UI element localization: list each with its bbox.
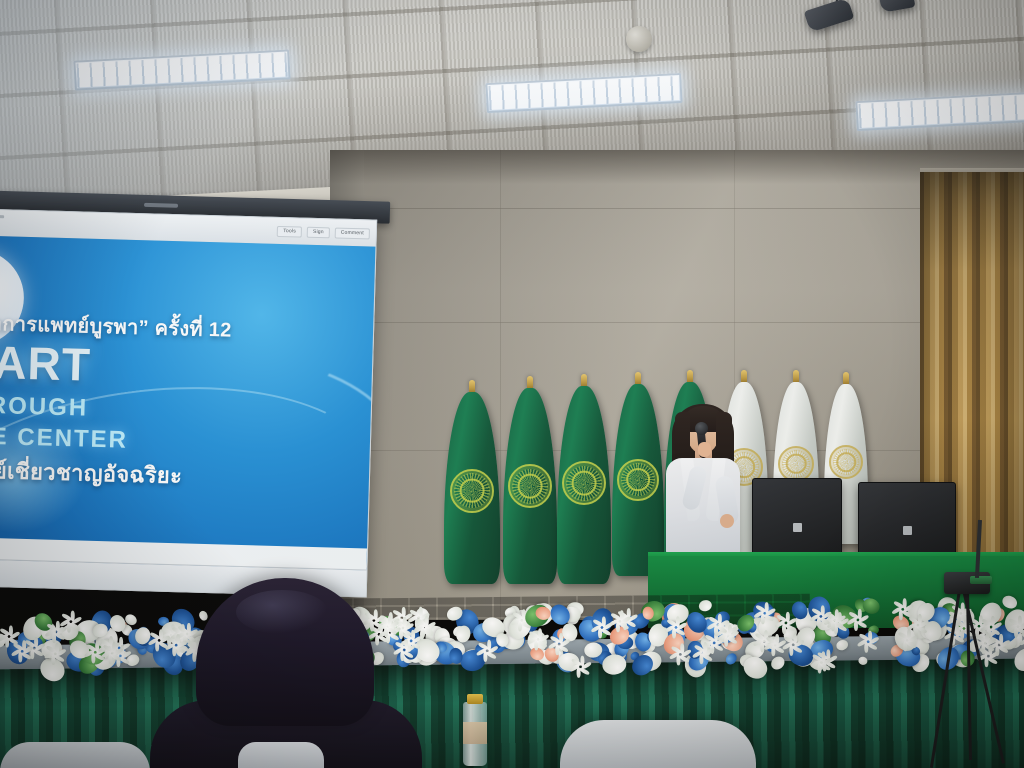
attendee-hair-highlight bbox=[236, 590, 328, 634]
flag-emblem-icon bbox=[829, 445, 863, 479]
flag-emblem-rays bbox=[454, 473, 489, 508]
water-bottle-cap bbox=[467, 694, 483, 704]
slide-subtitle-en-1: THROUGH bbox=[0, 392, 365, 429]
flag-emblem-icon bbox=[617, 459, 659, 501]
flag-emblem-icon bbox=[562, 461, 606, 505]
lily-flower bbox=[670, 646, 686, 662]
flag-emblem-rays bbox=[512, 469, 547, 504]
lily-flower bbox=[783, 637, 799, 653]
flower bbox=[858, 656, 869, 666]
flower bbox=[724, 651, 740, 667]
lily-flower bbox=[0, 628, 15, 644]
lily-flower bbox=[415, 618, 431, 634]
lily-flower bbox=[592, 620, 608, 636]
lily-flower bbox=[45, 624, 61, 640]
presenter-hand-right bbox=[720, 514, 734, 528]
presenter-hand-left bbox=[698, 442, 711, 457]
lily-flower bbox=[858, 634, 874, 650]
monitor-right bbox=[858, 482, 956, 558]
lily-flower bbox=[477, 643, 493, 659]
attendee-collar bbox=[238, 742, 324, 768]
flag-emblem-icon bbox=[508, 464, 552, 508]
toolbar-handle-icon bbox=[0, 215, 4, 219]
lily-flower bbox=[377, 618, 393, 634]
tab-comment[interactable]: Comment bbox=[335, 227, 370, 239]
lily-flower bbox=[811, 608, 827, 624]
tab-tools[interactable]: Tools bbox=[277, 225, 302, 237]
flag-finial-icon bbox=[469, 380, 475, 392]
lily-flower bbox=[394, 642, 410, 658]
chair-center bbox=[560, 720, 756, 768]
flower bbox=[198, 609, 209, 621]
flag-emblem-icon bbox=[450, 469, 494, 513]
flag-emblem-rays bbox=[833, 449, 859, 475]
lily-flower bbox=[893, 601, 909, 617]
flag-emblem-rays bbox=[782, 450, 810, 478]
slide-subtitle-en-2: NCE CENTER bbox=[0, 423, 364, 460]
flag-finial-icon bbox=[741, 370, 747, 382]
monitor-left bbox=[752, 478, 842, 556]
lily-flower bbox=[1020, 633, 1024, 649]
flag-finial-icon bbox=[581, 374, 587, 386]
lily-flower bbox=[708, 617, 724, 633]
lily-flower bbox=[103, 645, 119, 661]
lily-flower bbox=[898, 632, 914, 648]
camera-indicator-light bbox=[970, 576, 992, 584]
lily-flower bbox=[571, 659, 587, 675]
lily-flower bbox=[45, 645, 61, 661]
flag-finial-icon bbox=[793, 370, 799, 382]
conference-hall-photo: Tools Sign Comment “วิชาการแพทย์บูรพา” ค… bbox=[0, 0, 1024, 768]
flower bbox=[697, 598, 713, 612]
water-bottle-label bbox=[463, 722, 487, 744]
flag-emblem-rays bbox=[566, 466, 601, 501]
smoke-detector-icon bbox=[626, 26, 652, 52]
lily-flower bbox=[811, 654, 827, 670]
presentation-slide: “วิชาการแพทย์บูรพา” ครั้งที่ 12 MART THR… bbox=[0, 235, 375, 570]
lily-flower bbox=[755, 605, 771, 621]
tab-sign[interactable]: Sign bbox=[307, 226, 330, 238]
lily-flower bbox=[549, 636, 565, 652]
slide-title-en: MART bbox=[0, 338, 367, 395]
flag-finial-icon bbox=[687, 370, 693, 382]
lily-flower bbox=[666, 620, 682, 636]
lily-flower bbox=[848, 612, 864, 628]
lily-flower bbox=[694, 645, 710, 661]
lily-flower bbox=[528, 632, 544, 648]
flower bbox=[835, 638, 850, 652]
lily-flower bbox=[765, 637, 781, 653]
flag-finial-icon bbox=[527, 376, 533, 388]
flag-finial-icon bbox=[635, 372, 641, 384]
lily-flower bbox=[149, 632, 165, 648]
slide-text-block: “วิชาการแพทย์บูรพา” ครั้งที่ 12 MART THR… bbox=[0, 313, 367, 493]
lily-flower bbox=[981, 619, 997, 635]
flag-emblem-rays bbox=[621, 463, 654, 496]
lily-flower bbox=[776, 614, 792, 630]
projection-screen: Tools Sign Comment “วิชาการแพทย์บูรพา” ค… bbox=[0, 208, 377, 597]
flag-emblem-icon bbox=[778, 446, 814, 482]
flag-finial-icon bbox=[843, 372, 849, 384]
lily-flower bbox=[12, 643, 28, 659]
chair-left bbox=[0, 742, 150, 768]
microphone-icon bbox=[695, 422, 708, 435]
